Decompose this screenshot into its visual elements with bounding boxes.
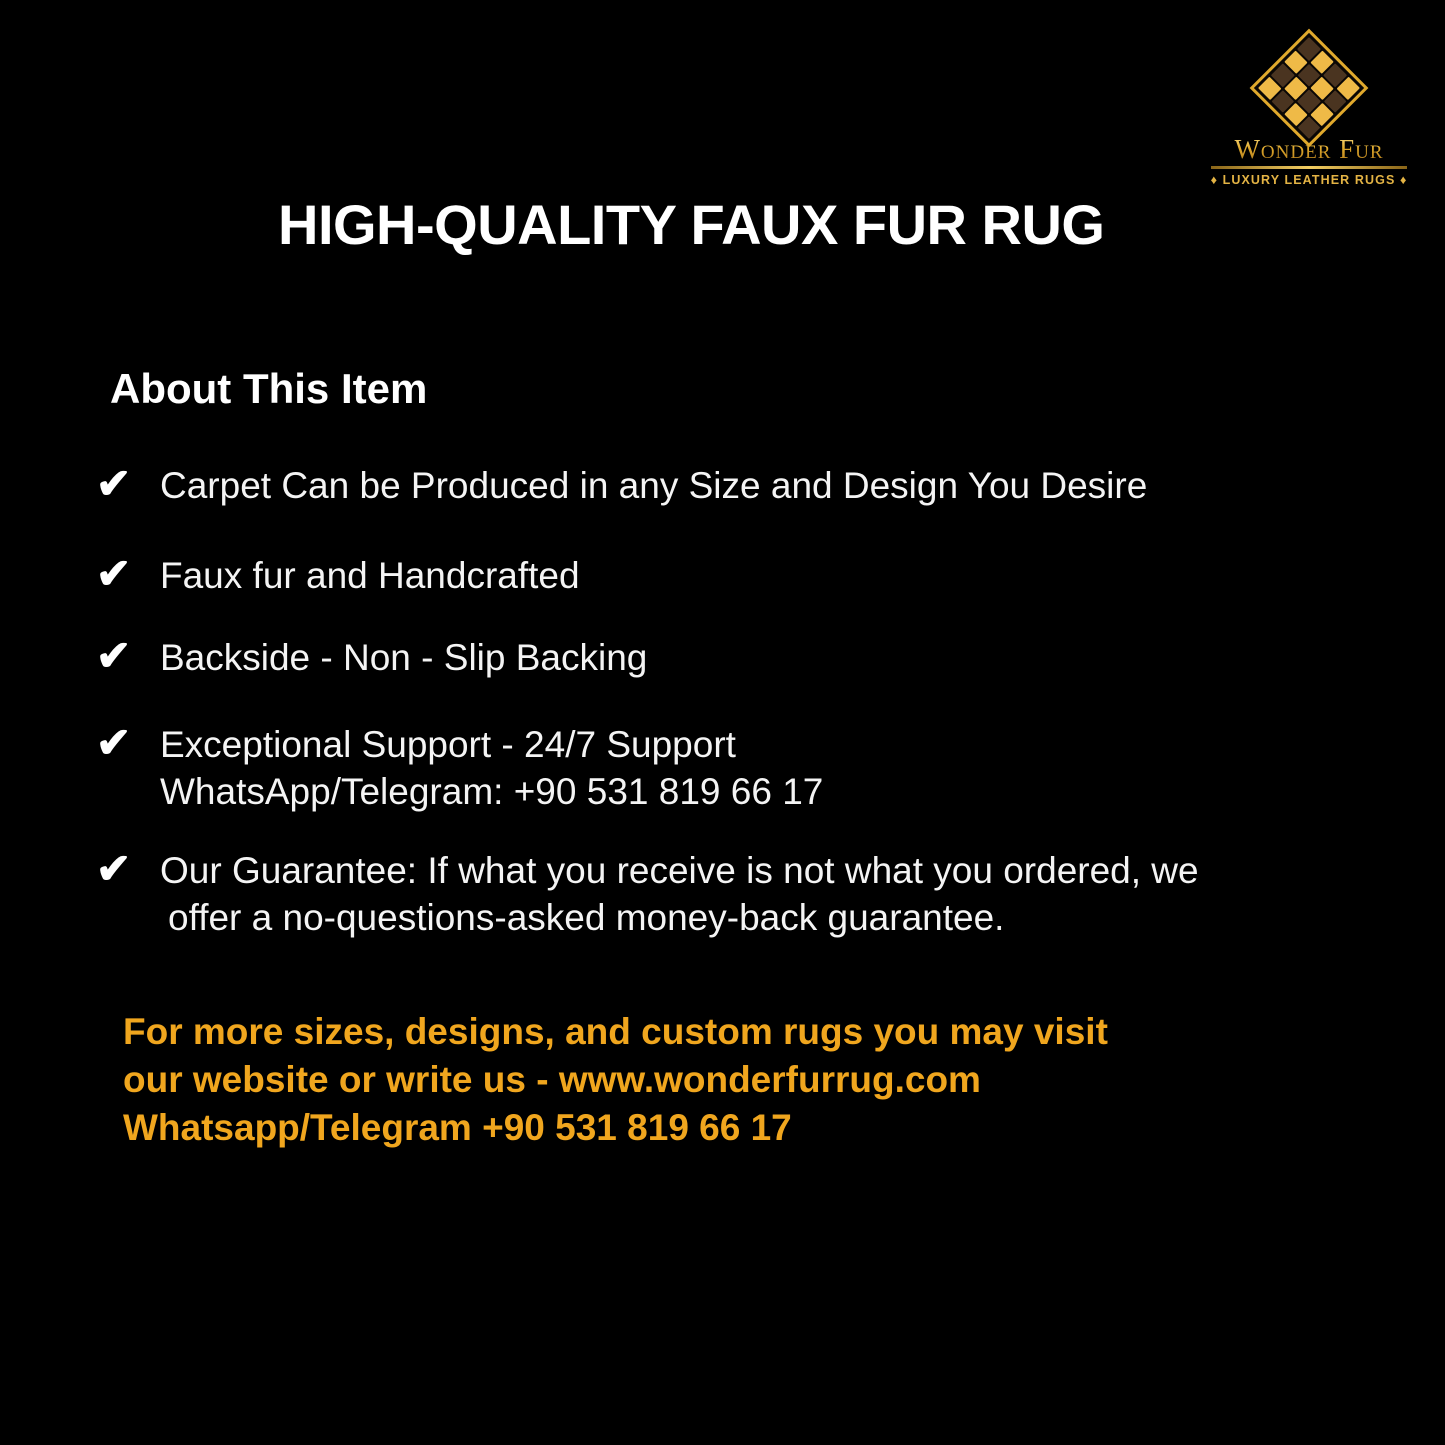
list-item-sublabel: offer a no-questions-asked money-back gu… xyxy=(160,894,1382,941)
promo-line-website[interactable]: our website or write us - www.wonderfurr… xyxy=(123,1056,1373,1104)
check-icon: ✔ xyxy=(96,460,131,507)
list-item: ✔ Faux fur and Handcrafted xyxy=(92,552,1382,599)
check-icon: ✔ xyxy=(96,845,131,892)
spacer xyxy=(92,681,1382,721)
check-icon: ✔ xyxy=(96,550,131,597)
list-item: ✔ Backside - Non - Slip Backing xyxy=(92,634,1382,681)
list-item-label: Backside - Non - Slip Backing xyxy=(160,634,1382,681)
logo-tile-grid xyxy=(1258,37,1360,139)
list-item: ✔ Carpet Can be Produced in any Size and… xyxy=(92,462,1382,509)
section-heading-about-this-item: About This Item xyxy=(110,364,427,414)
product-info-banner: Wonder Fur ♦ LUXURY LEATHER RUGS ♦ HIGH-… xyxy=(0,0,1445,1445)
spacer xyxy=(92,815,1382,847)
brand-tagline: ♦ LUXURY LEATHER RUGS ♦ xyxy=(1196,173,1422,187)
spacer xyxy=(92,509,1382,552)
logo-divider xyxy=(1211,166,1407,169)
brand-logo: Wonder Fur ♦ LUXURY LEATHER RUGS ♦ xyxy=(1196,46,1422,192)
list-item-label: Exceptional Support - 24/7 Support xyxy=(160,721,1382,768)
diamond-checkerboard-icon xyxy=(1250,29,1369,148)
promo-line-1: For more sizes, designs, and custom rugs… xyxy=(123,1008,1373,1056)
check-icon: ✔ xyxy=(96,719,131,766)
page-title: HIGH-QUALITY FAUX FUR RUG xyxy=(278,194,1104,256)
spacer xyxy=(92,599,1382,634)
list-item: ✔ Exceptional Support - 24/7 Support Wha… xyxy=(92,721,1382,815)
check-icon: ✔ xyxy=(96,632,131,679)
list-item-label: Faux fur and Handcrafted xyxy=(160,552,1382,599)
promo-block: For more sizes, designs, and custom rugs… xyxy=(123,1008,1373,1152)
list-item-sublabel: WhatsApp/Telegram: +90 531 819 66 17 xyxy=(160,768,1382,815)
list-item-label: Carpet Can be Produced in any Size and D… xyxy=(160,462,1382,509)
list-item-label: Our Guarantee: If what you receive is no… xyxy=(160,847,1382,894)
list-item: ✔ Our Guarantee: If what you receive is … xyxy=(92,847,1382,941)
feature-list: ✔ Carpet Can be Produced in any Size and… xyxy=(92,462,1382,941)
promo-line-contact[interactable]: Whatsapp/Telegram +90 531 819 66 17 xyxy=(123,1104,1373,1152)
